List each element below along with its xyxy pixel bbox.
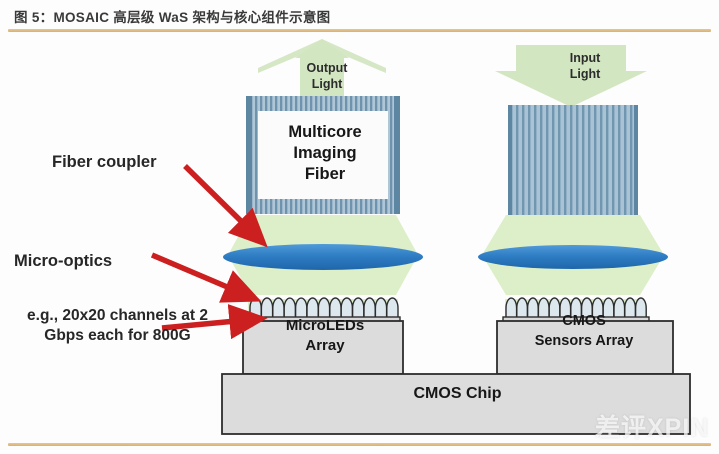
annotation-arrows [152, 166, 245, 328]
microleds-array-box [243, 321, 403, 374]
page-title: 图 5：MOSAIC 高层级 WaS 架构与核心组件示意图 [14, 6, 330, 26]
label-channels: e.g., 20x20 channels at 2 Gbps each for … [10, 306, 225, 346]
micro-optics-lens [223, 244, 423, 270]
microlens-row [246, 298, 400, 322]
arrow-micro-optics [152, 255, 232, 289]
left-optical-stack [223, 39, 423, 374]
right-fiber-edge-right [634, 105, 638, 215]
input-light-arrow [495, 45, 647, 107]
label-micro-optics: Micro-optics [14, 252, 112, 271]
right-fiber-edge-left [508, 105, 512, 215]
label-fiber-coupler: Fiber coupler [52, 153, 157, 172]
fiber-edge-left [246, 96, 252, 214]
cmos-chip-box [222, 374, 690, 434]
cmos-sensors-array-box [497, 321, 673, 374]
fiber-edge-right [394, 96, 400, 214]
output-light-arrow-shaft [300, 58, 344, 96]
right-fiber-block [508, 105, 638, 215]
right-microlens-row [503, 298, 649, 322]
fiber-caption-plate [258, 111, 388, 199]
divider-top [8, 29, 711, 32]
arrow-fiber-coupler [185, 166, 245, 225]
right-optical-stack [478, 45, 673, 374]
figure-page: 图 5：MOSAIC 高层级 WaS 架构与核心组件示意图 [0, 0, 719, 454]
divider-bottom [8, 443, 711, 446]
right-micro-optics-lens [478, 245, 668, 269]
architecture-diagram [0, 33, 719, 441]
